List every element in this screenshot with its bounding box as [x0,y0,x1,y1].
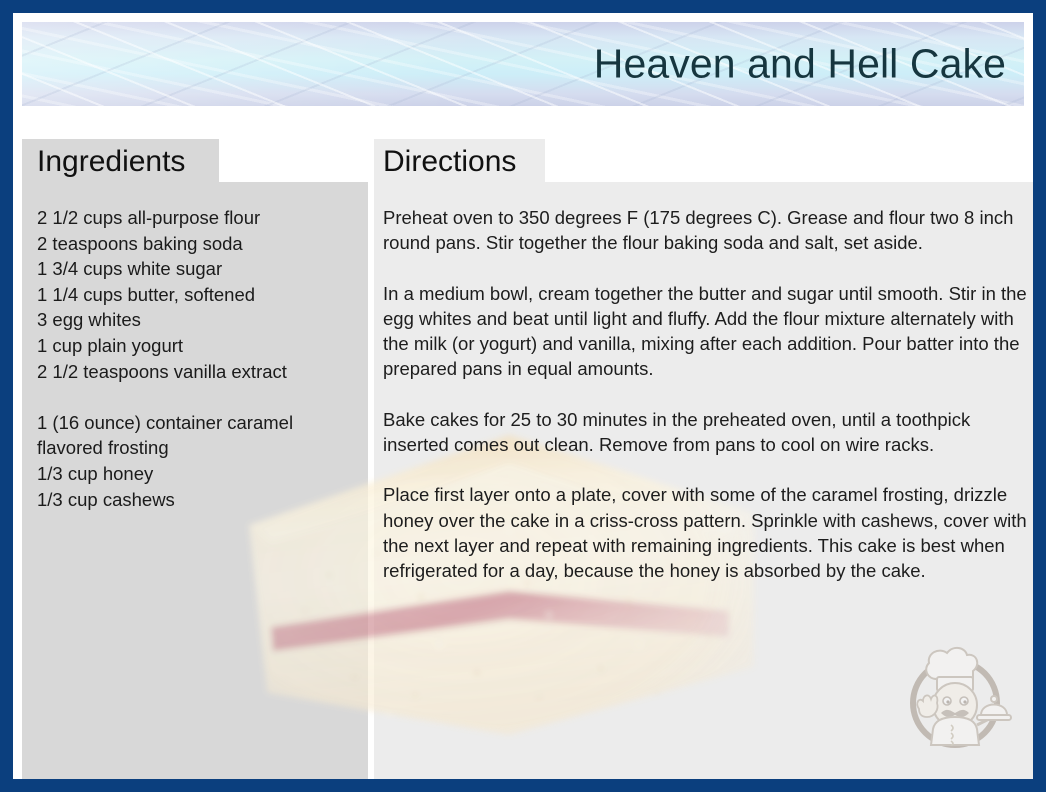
ingredient-item: 1 3/4 cups white sugar [37,256,357,282]
ingredient-item: 2 1/2 teaspoons vanilla extract [37,359,357,385]
direction-step: Bake cakes for 25 to 30 minutes in the p… [383,407,1031,458]
ingredient-item: 1 1/4 cups butter, softened [37,282,357,308]
recipe-card: Heaven and Hell Cake [0,0,1046,792]
direction-step: Preheat oven to 350 degrees F (175 degre… [383,205,1031,256]
ingredients-list: 2 1/2 cups all-purpose flour 2 teaspoons… [37,205,357,512]
header-banner: Heaven and Hell Cake [22,22,1024,106]
chef-mascot-logo [893,633,1017,757]
direction-step: Place first layer onto a plate, cover wi… [383,482,1031,583]
ingredients-heading: Ingredients [37,147,185,177]
ingredient-item: 2 teaspoons baking soda [37,231,357,257]
page-title: Heaven and Hell Cake [594,44,1006,85]
ingredient-item: 1/3 cup cashews [37,487,357,513]
ingredient-item: 1 (16 ounce) container caramel flavored … [37,410,357,461]
directions-list: Preheat oven to 350 degrees F (175 degre… [383,205,1031,584]
ingredient-item: 3 egg whites [37,307,357,333]
directions-heading: Directions [383,147,516,177]
direction-step: In a medium bowl, cream together the but… [383,281,1031,382]
ingredient-item: 1 cup plain yogurt [37,333,357,359]
ingredient-item: 2 1/2 cups all-purpose flour [37,205,357,231]
ingredients-group-separator [37,384,357,410]
ingredient-item: 1/3 cup honey [37,461,357,487]
